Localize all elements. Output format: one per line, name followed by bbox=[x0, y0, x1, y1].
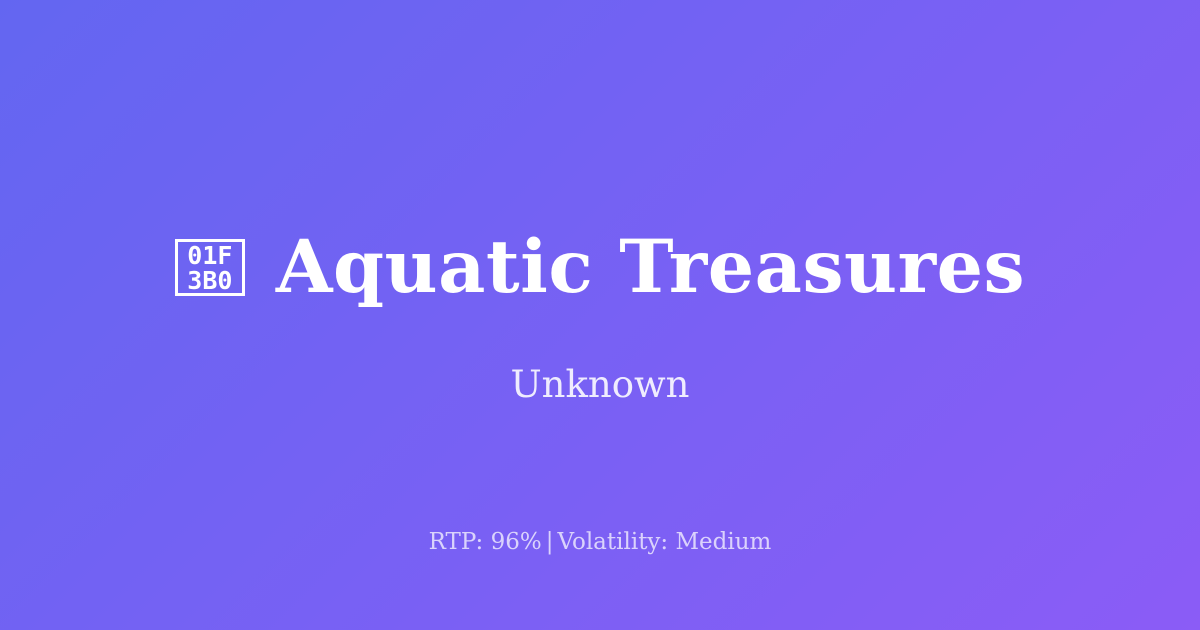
tofu-codepoint-line-2: 3B0 bbox=[187, 268, 232, 293]
title-row: 01F 3B0 Aquatic Treasures bbox=[0, 231, 1200, 304]
game-stats: RTP: 96%|Volatility: Medium bbox=[0, 528, 1200, 558]
page-title: Aquatic Treasures bbox=[276, 231, 1025, 304]
game-og-card: 01F 3B0 Aquatic Treasures Unknown RTP: 9… bbox=[0, 0, 1200, 630]
provider-name: Unknown bbox=[0, 366, 1200, 403]
stats-separator: | bbox=[542, 529, 558, 555]
tofu-codepoint-line-1: 01F bbox=[187, 243, 232, 268]
slot-machine-icon: 01F 3B0 bbox=[175, 239, 245, 296]
rtp-value: RTP: 96% bbox=[429, 529, 542, 555]
volatility-value: Volatility: Medium bbox=[557, 529, 771, 555]
